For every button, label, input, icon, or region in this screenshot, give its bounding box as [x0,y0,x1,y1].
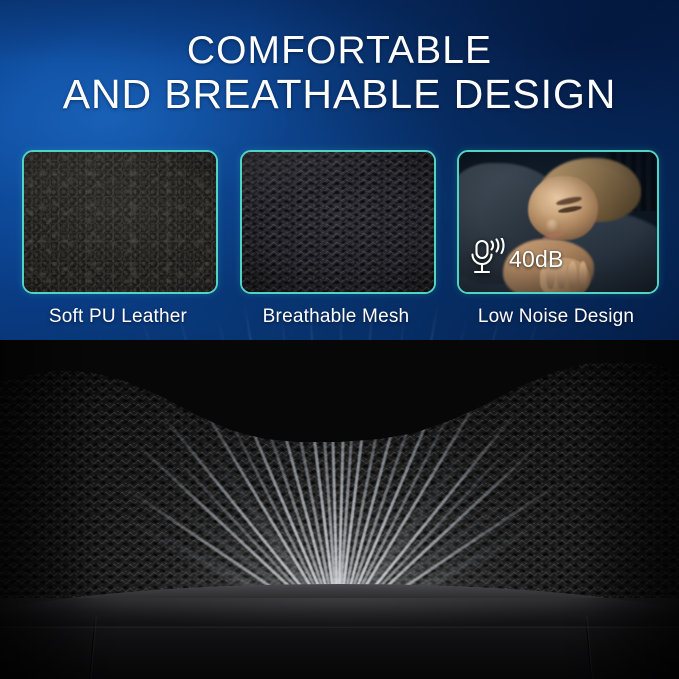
base-sheen [0,598,679,679]
product-feature-infographic: COMFORTABLE AND BREATHABLE DESIGN [0,0,679,679]
noise-level-badge: 40dB [469,238,564,280]
seat-cushion-product [0,340,679,679]
cushion-leather-base [0,598,679,679]
noise-level-value: 40dB [509,248,564,271]
mesh-sheen [242,152,434,292]
feature-caption-breathable-mesh: Breathable Mesh [240,306,432,328]
feature-caption-soft-pu-leather: Soft PU Leather [22,306,214,328]
microphone-icon [469,238,507,280]
feature-panel-low-noise-design[interactable]: 40dB [457,150,659,294]
feature-panel-breathable-mesh[interactable] [240,150,436,294]
pu-leather-sheen [24,152,216,292]
feature-panel-group: 40dB [0,0,679,340]
feature-panel-soft-pu-leather[interactable] [22,150,218,294]
feature-caption-low-noise-design: Low Noise Design [457,306,655,328]
